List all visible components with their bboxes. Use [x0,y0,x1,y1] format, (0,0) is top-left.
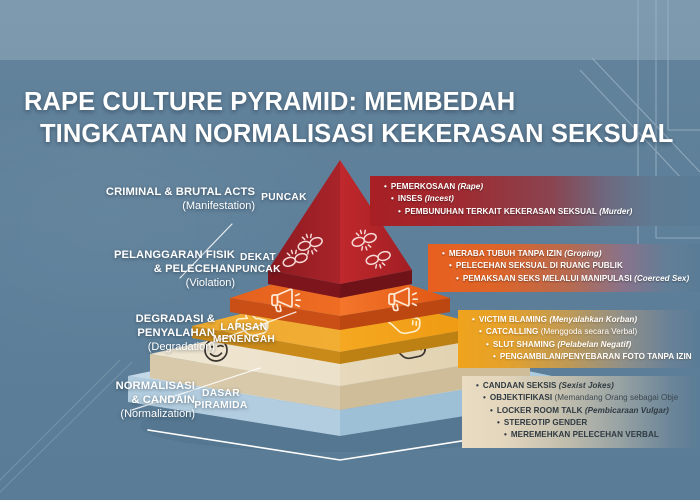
list-item: SLUT SHAMING (Pelabelan Negatif) [472,339,700,351]
tier-4-label-sub: (Normalization) [10,408,195,422]
tier-2-label-sub: (Violation) [50,277,235,291]
tier-2-label-main-line-1: PELANGGARAN FISIK [50,249,235,263]
list-item: PEMAKSAAN SEKS MELALUI MANIPULASI (Coerc… [442,273,700,285]
list-item: MEREMEHKAN PELECEHAN VERBAL [476,429,700,441]
list-item: LOCKER ROOM TALK (Pembicaraan Vulgar) [476,405,700,417]
list-item: PEMBUNUHAN TERKAIT KEKERASAN SEKSUAL (Mu… [384,206,700,218]
list-item: PENGAMBILAN/PENYEBARAN FOTO TANPA IZIN [472,351,700,363]
tier-2-tag: DEKAT PUNCAK [228,252,288,276]
tier-2-tag-line-2: PUNCAK [228,264,288,276]
infographic-canvas: RAPE CULTURE PYRAMID: MEMBEDAH TINGKATAN… [0,0,700,500]
tier-3-tag-line-2: MENENGAH [208,334,280,346]
tier-1-label-main: CRIMINAL & BRUTAL ACTS [70,186,255,200]
tier-3-panel: VICTIM BLAMING (Menyalahkan Korban)CATCA… [458,310,700,368]
tier-4-label: NORMALISASI & CANDAIN (Normalization) [10,380,195,421]
tier-1-label: CRIMINAL & BRUTAL ACTS (Manifestation) [70,186,255,214]
list-item: PELECEHAN SEKSUAL DI RUANG PUBLIK [442,260,700,272]
tier-3-label-main-line-2: PENYALAHAN [30,327,215,341]
page-title: RAPE CULTURE PYRAMID: MEMBEDAH TINGKATAN… [24,86,684,151]
tier-4-item-list: CANDAAN SEKSIS (Sexist Jokes)OBJEKTIFIKA… [462,376,700,441]
list-item: CANDAAN SEKSIS (Sexist Jokes) [476,380,700,392]
tier-4-label-main-line-1: NORMALISASI [10,380,195,394]
list-item: CATCALLING (Menggoda secara Verbal) [472,326,700,338]
list-item: PEMERKOSAAN (Rape) [384,181,700,193]
tier-2-item-list: MERABA TUBUH TANPA IZIN (Groping)PELECEH… [428,244,700,285]
tier-2-label-main-line-2: & PELECEHAN [50,263,235,277]
tier-4-panel: CANDAAN SEKSIS (Sexist Jokes)OBJEKTIFIKA… [462,376,700,448]
tier-4-label-main-line-2: & CANDAIN [10,394,195,408]
tier-3-label-sub: (Degradation) [30,341,215,355]
list-item: OBJEKTIFIKASI (Memandang Orang sebagai O… [476,392,700,404]
background-top-band [0,0,700,68]
list-item: INSES (Incest) [384,193,700,205]
tier-3-tag-line-1: LAPISAN [208,322,280,334]
tier-3-label: DEGRADASI & PENYALAHAN (Degradation) [30,313,215,354]
tier-1-item-list: PEMERKOSAAN (Rape)INSES (Incest)PEMBUNUH… [370,176,700,218]
tier-2-label: PELANGGARAN FISIK & PELECEHAN (Violation… [50,249,235,290]
tier-3-tag: LAPISAN MENENGAH [208,322,280,346]
list-item: MERABA TUBUH TANPA IZIN (Groping) [442,248,700,260]
tier-1-label-sub: (Manifestation) [70,200,255,214]
tier-4-tag-line-2: PIRAMIDA [186,400,256,412]
title-line-2: TINGKATAN NORMALISASI KEKERASAN SEKSUAL [24,118,684,150]
tier-4-tag: DASAR PIRAMIDA [186,388,256,412]
list-item: VICTIM BLAMING (Menyalahkan Korban) [472,314,700,326]
tier-2-tag-line-1: DEKAT [228,252,288,264]
title-line-1: RAPE CULTURE PYRAMID: MEMBEDAH [24,88,515,116]
tier-1-panel: PEMERKOSAAN (Rape)INSES (Incest)PEMBUNUH… [370,176,700,226]
list-item: STEREOTIP GENDER [476,417,700,429]
tier-1-tag: PUNCAK [256,192,312,204]
tier-4-tag-line-1: DASAR [186,388,256,400]
tier-3-label-main-line-1: DEGRADASI & [30,313,215,327]
tier-2-panel: MERABA TUBUH TANPA IZIN (Groping)PELECEH… [428,244,700,292]
tier-3-item-list: VICTIM BLAMING (Menyalahkan Korban)CATCA… [458,310,700,363]
